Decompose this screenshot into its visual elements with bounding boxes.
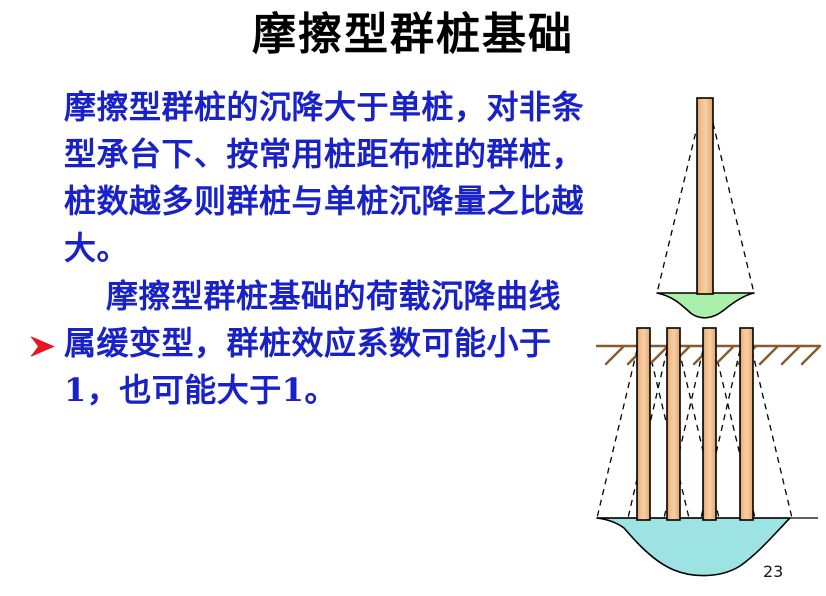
slide-canvas: 摩擦型群桩基础 摩擦型群桩的沉降大于单桩，对非条型承台下、按常用桩距布桩的群桩，… <box>0 0 826 596</box>
page-number: 23 <box>763 562 783 582</box>
single-pile-shaft <box>697 98 713 294</box>
pile-group-stress-cones <box>597 350 792 518</box>
single-pile-settlement-bulb <box>657 293 754 318</box>
pile-group-group <box>597 328 820 576</box>
paragraph-2: 摩擦型群桩基础的荷载沉降曲线属缓变型，群桩效应系数可能小于1，也可能大于1。 <box>26 273 592 414</box>
pile-settlement-diagram <box>588 84 826 584</box>
group-pile-2 <box>667 328 680 520</box>
paragraph-1: 摩擦型群桩的沉降大于单桩，对非条型承台下、按常用桩距布桩的群桩，桩数越多则群桩与… <box>26 84 592 272</box>
page-title: 摩擦型群桩基础 <box>0 6 826 64</box>
paragraph-2-text: 摩擦型群桩基础的荷载沉降曲线属缓变型，群桩效应系数可能小于1，也可能大于1。 <box>64 277 561 409</box>
group-pile-1 <box>637 328 650 520</box>
single-pile-group <box>657 98 754 318</box>
group-pile-4 <box>740 328 753 520</box>
group-pile-3 <box>703 328 716 520</box>
body-text-column: 摩擦型群桩的沉降大于单桩，对非条型承台下、按常用桩距布桩的群桩，桩数越多则群桩与… <box>26 84 592 414</box>
pile-group-settlement-basin <box>597 518 790 576</box>
